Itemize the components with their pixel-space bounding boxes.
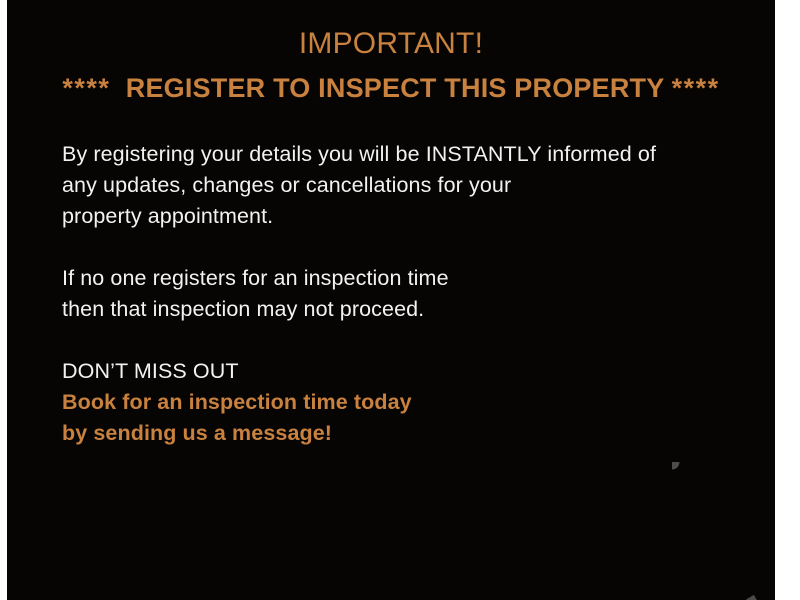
paragraph-no-registration-warning: If no one registers for an inspection ti… [62, 263, 722, 325]
headline-block: IMPORTANT! **** REGISTER TO INSPECT THIS… [7, 26, 775, 105]
paragraph-call-to-action: DON’T MISS OUT Book for an inspection ti… [62, 356, 722, 449]
paragraph-registering-details: By registering your details you will be … [62, 139, 722, 232]
headline-register-text: REGISTER TO INSPECT THIS PROPERTY [126, 73, 664, 103]
cta-message-line: by sending us a message! [62, 418, 722, 449]
slide-canvas: IMPORTANT! **** REGISTER TO INSPECT THIS… [0, 0, 800, 600]
dont-miss-out-line: DON’T MISS OUT [62, 356, 722, 387]
headline-important: IMPORTANT! [7, 26, 775, 61]
paragraph1-line3: property appointment. [62, 201, 722, 232]
paragraph2-line1: If no one registers for an inspection ti… [62, 263, 722, 294]
stars-right: **** [672, 73, 720, 103]
slide-background: IMPORTANT! **** REGISTER TO INSPECT THIS… [7, 0, 775, 600]
paragraph1-line1: By registering your details you will be … [62, 139, 722, 170]
paragraph1-line2: any updates, changes or cancellations fo… [62, 170, 722, 201]
headline-register: **** REGISTER TO INSPECT THIS PROPERTY *… [7, 72, 775, 104]
stars-left: **** [62, 73, 110, 103]
cta-book-line: Book for an inspection time today [62, 387, 722, 418]
paragraph2-line2: then that inspection may not proceed. [62, 294, 722, 325]
body-copy-block: By registering your details you will be … [62, 139, 722, 449]
